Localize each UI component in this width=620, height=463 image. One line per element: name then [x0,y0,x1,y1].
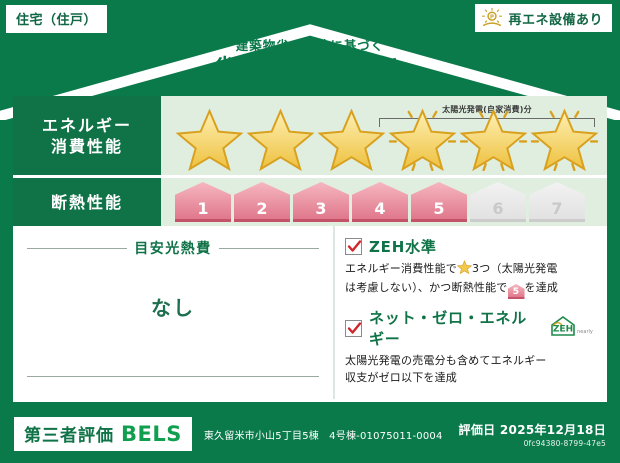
star-plain [246,107,315,171]
energy-label-line1: エネルギー [42,115,132,136]
svg-text:P: P [490,15,494,21]
claim-zeh-body-part3: は考慮しない）、かつ断熱性能で [345,281,508,294]
svg-text:nearly: nearly [577,329,593,335]
utility-cost-panel: 目安光熱費 なし [13,226,333,399]
claim-nze-body-line1: 太陽光発電の売電分も含めてエネルギー [345,354,547,367]
main-card: エネルギー 消費性能 太陽光発電(自家消費)分 [13,96,607,402]
insulation-label-cell: 断熱性能 [13,178,161,226]
energy-performance-label: 住宅（住戸） P 再エネ設備あり 建築物省エネ法に基づく 省エネ [0,0,620,463]
claim-nze-body-line2: 収支がゼロ以下を達成 [345,371,457,384]
insulation-level-scale: 1 2 3 4 5 6 7 [161,182,585,222]
insulation-levels-area: 1 2 3 4 5 6 7 [161,178,607,226]
utility-cost-heading: 目安光熱費 [27,238,319,258]
claim-zeh-body-part2: 3つ（太陽光発電 [472,262,558,275]
star-solar [388,107,457,171]
checkbox-checked-icon [345,238,362,255]
footer-bar: 第三者評価 BELS 東久留米市小山5丁目5棟 4号棟-01075011-000… [0,405,620,463]
renewable-badge-label: 再エネ設備あり [508,9,603,28]
inline-insulation-badge: 5 [508,284,525,299]
title-block: 建築物省エネ法に基づく 省エネ性能ラベル [0,38,620,83]
insulation-level-5: 5 [411,182,467,222]
claim-nze-body: 太陽光発電の売電分も含めてエネルギー 収支がゼロ以下を達成 [345,352,595,386]
energy-performance-stars-area: 太陽光発電(自家消費)分 [161,96,607,175]
star-solar [530,107,599,171]
inline-star-icon [457,260,472,279]
evaluation-date: 評価日 2025年12月18日 [459,421,606,438]
checkbox-checked-icon [345,320,362,337]
bels-en-label: BELS [121,422,182,446]
zeh-house-logo-icon: ZEH nearly [549,315,595,342]
bels-chip: 第三者評価 BELS [14,417,192,451]
insulation-level-7: 7 [529,182,585,222]
claim-nze-title: ネット・ゼロ・エネルギー [369,307,538,349]
star-plain [317,107,386,171]
svg-text:ZEH: ZEH [553,324,573,334]
star-rating [161,101,599,171]
claim-zeh-standard: ZEH水準 エネルギー消費性能で3つ（太陽光発電 は考慮しない）、かつ断熱性能で… [345,236,595,299]
utility-cost-bottom-rule [27,376,319,377]
utility-cost-heading-text: 目安光熱費 [134,238,212,258]
rule-right [219,248,319,249]
energy-performance-label-cell: エネルギー 消費性能 [13,96,161,175]
claim-zeh-body: エネルギー消費性能で3つ（太陽光発電 は考慮しない）、かつ断熱性能で5を達成 [345,260,595,299]
insulation-level-3: 3 [293,182,349,222]
claim-zeh-body-part4: を達成 [525,281,559,294]
insulation-level-4: 4 [352,182,408,222]
property-address: 東久留米市小山5丁目5棟 4号棟-01075011-0004 [204,427,443,442]
insulation-level-2: 2 [234,182,290,222]
claim-nze-head: ネット・ゼロ・エネルギー ZEH nearly [345,307,595,349]
star-plain [175,107,244,171]
claim-zeh-title: ZEH水準 [369,236,437,257]
insulation-level-1: 1 [175,182,231,222]
lower-section: 目安光熱費 なし ZEH水準 エネルギー消費性能で3つ（太陽光発電 [13,226,607,399]
evaluation-id: 0fc94380-8799-47e5 [459,439,606,448]
insulation-performance-row: 断熱性能 1 2 3 4 5 6 7 [13,178,607,226]
claim-zeh-body-part1: エネルギー消費性能で [345,262,457,275]
insulation-level-6: 6 [470,182,526,222]
evaluation-info: 評価日 2025年12月18日 0fc94380-8799-47e5 [459,421,606,448]
bels-jp-label: 第三者評価 [24,421,114,446]
star-solar [459,107,528,171]
energy-label-line2: 消費性能 [51,136,123,157]
building-type-chip: 住宅（住戸） [6,5,107,33]
claims-panel: ZEH水準 エネルギー消費性能で3つ（太陽光発電 は考慮しない）、かつ断熱性能で… [333,226,607,399]
utility-cost-value: なし [27,292,319,321]
label-title: 省エネ性能ラベル [0,55,620,83]
claim-net-zero-energy: ネット・ゼロ・エネルギー ZEH nearly 太陽光発電の売電分も含めてエネル… [345,307,595,386]
claim-zeh-head: ZEH水準 [345,236,595,257]
rule-left [27,248,127,249]
renewable-equipment-badge: P 再エネ設備あり [475,4,612,32]
sun-icon: P [481,7,503,29]
energy-performance-row: エネルギー 消費性能 太陽光発電(自家消費)分 [13,96,607,178]
label-subtitle: 建築物省エネ法に基づく [0,38,620,54]
